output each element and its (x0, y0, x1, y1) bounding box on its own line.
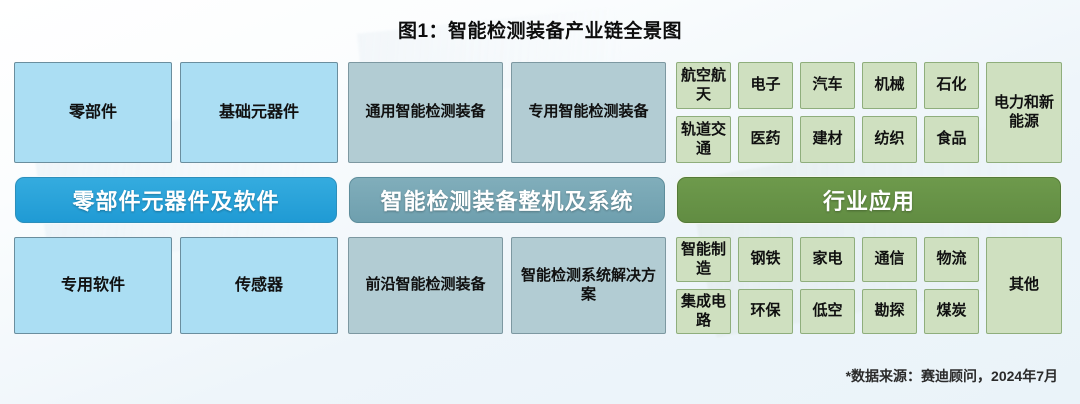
band-industry[interactable]: 行业应用 (676, 176, 1062, 224)
box-industry-petrochemical[interactable]: 石化 (924, 62, 979, 109)
components-bottom-row: 专用软件 传感器 (14, 237, 338, 334)
box-industry-power-new-energy[interactable]: 电力和新能源 (986, 62, 1062, 163)
industry-pair-steel-environment: 钢铁 环保 (738, 237, 793, 334)
box-industry-exploration[interactable]: 勘探 (862, 289, 917, 334)
industry-pair-electronics-pharma: 电子 医药 (738, 62, 793, 163)
industry-pair-appliance-lowaltitude: 家电 低空 (800, 237, 855, 334)
box-industry-rail-transit[interactable]: 轨道交通 (676, 116, 731, 163)
industry-pair-machinery-textile: 机械 纺织 (862, 62, 917, 163)
equipment-top-row: 通用智能检测装备 专用智能检测装备 (348, 62, 666, 163)
box-industry-smart-manufacturing[interactable]: 智能制造 (676, 237, 731, 282)
box-industry-textile[interactable]: 纺织 (862, 116, 917, 163)
box-components-software[interactable]: 专用软件 (14, 237, 172, 334)
box-industry-steel[interactable]: 钢铁 (738, 237, 793, 282)
box-components-part[interactable]: 零部件 (14, 62, 172, 163)
industry-bottom-grid: 智能制造 集成电路 钢铁 环保 家电 低空 通信 (676, 237, 1062, 334)
industry-pair-aero-rail: 航空航天 轨道交通 (676, 62, 731, 163)
box-industry-pharmaceutical[interactable]: 医药 (738, 116, 793, 163)
infographic-page: 图1：智能检测装备产业链全景图 零部件 基础元器件 零部件元器件及软件 专用软件… (0, 0, 1080, 404)
box-industry-automobile[interactable]: 汽车 (800, 62, 855, 109)
box-industry-telecommunication[interactable]: 通信 (862, 237, 917, 282)
title-bar: 图1：智能检测装备产业链全景图 (0, 0, 1080, 58)
industry-top-grid: 航空航天 轨道交通 电子 医药 汽车 建材 机械 (676, 62, 1062, 163)
box-industry-low-altitude[interactable]: 低空 (800, 289, 855, 334)
box-industry-electronics[interactable]: 电子 (738, 62, 793, 109)
industry-bottom-pairs: 智能制造 集成电路 钢铁 环保 家电 低空 通信 (676, 237, 979, 334)
value-chain-diagram: 零部件 基础元器件 零部件元器件及软件 专用软件 传感器 通用智能检测装备 专用… (14, 62, 1066, 334)
segment-equipment: 通用智能检测装备 专用智能检测装备 智能检测装备整机及系统 前沿智能检测装备 智… (348, 62, 666, 334)
page-title: 图1：智能检测装备产业链全景图 (398, 16, 682, 43)
box-industry-integrated-circuit[interactable]: 集成电路 (676, 289, 731, 334)
band-components[interactable]: 零部件元器件及软件 (14, 176, 338, 224)
industry-pair-smartmfg-ic: 智能制造 集成电路 (676, 237, 731, 334)
components-top-row: 零部件 基础元器件 (14, 62, 338, 163)
box-industry-food[interactable]: 食品 (924, 116, 979, 163)
industry-bottom-row: 智能制造 集成电路 钢铁 环保 家电 低空 通信 (676, 237, 1062, 334)
source-note: *数据来源：赛迪顾问，2024年7月 (846, 366, 1058, 386)
box-equipment-frontier[interactable]: 前沿智能检测装备 (348, 237, 503, 334)
box-industry-coal[interactable]: 煤炭 (924, 289, 979, 334)
box-components-sensor[interactable]: 传感器 (180, 237, 338, 334)
box-equipment-solution[interactable]: 智能检测系统解决方案 (511, 237, 666, 334)
box-equipment-dedicated[interactable]: 专用智能检测装备 (511, 62, 666, 163)
band-equipment[interactable]: 智能检测装备整机及系统 (348, 176, 666, 224)
segment-components: 零部件 基础元器件 零部件元器件及软件 专用软件 传感器 (14, 62, 338, 334)
box-industry-other[interactable]: 其他 (986, 237, 1062, 334)
box-industry-building-materials[interactable]: 建材 (800, 116, 855, 163)
equipment-bottom-row: 前沿智能检测装备 智能检测系统解决方案 (348, 237, 666, 334)
box-equipment-general[interactable]: 通用智能检测装备 (348, 62, 503, 163)
segment-industry: 航空航天 轨道交通 电子 医药 汽车 建材 机械 (676, 62, 1062, 334)
box-industry-environmental[interactable]: 环保 (738, 289, 793, 334)
industry-top-row: 航空航天 轨道交通 电子 医药 汽车 建材 机械 (676, 62, 1062, 163)
box-components-basic-device[interactable]: 基础元器件 (180, 62, 338, 163)
industry-pair-telecom-exploration: 通信 勘探 (862, 237, 917, 334)
industry-pair-petrochem-food: 石化 食品 (924, 62, 979, 163)
box-industry-home-appliance[interactable]: 家电 (800, 237, 855, 282)
industry-pair-auto-buildmat: 汽车 建材 (800, 62, 855, 163)
box-industry-aerospace[interactable]: 航空航天 (676, 62, 731, 109)
box-industry-machinery[interactable]: 机械 (862, 62, 917, 109)
box-industry-logistics[interactable]: 物流 (924, 237, 979, 282)
industry-pair-logistics-coal: 物流 煤炭 (924, 237, 979, 334)
industry-top-pairs: 航空航天 轨道交通 电子 医药 汽车 建材 机械 (676, 62, 979, 163)
